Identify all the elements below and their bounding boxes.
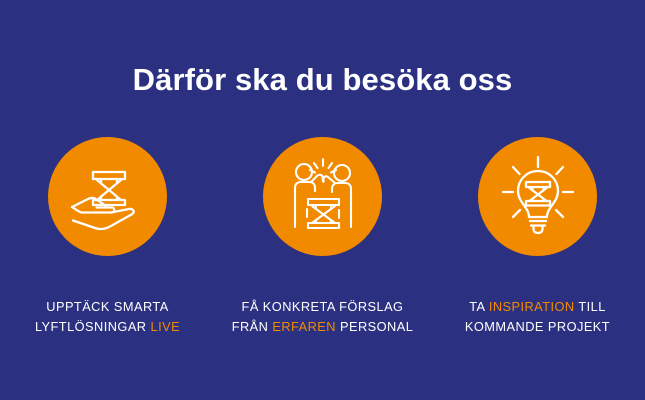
caption-text: FÅ KONKRETA FÖRSLAG	[242, 299, 404, 314]
icon-circle-3	[478, 137, 597, 256]
caption-text: KOMMANDE PROJEKT	[465, 319, 610, 334]
caption-text: UPPTÄCK SMARTA	[46, 299, 168, 314]
lightbulb-with-scissor-lift-icon	[496, 155, 580, 239]
caption-text: FRÅN	[232, 319, 273, 334]
promo-banner: Därför ska du besöka oss	[0, 0, 645, 400]
caption-line-1: FÅ KONKRETA FÖRSLAG	[232, 297, 414, 317]
caption-line-2: LYFTLÖSNINGAR LIVE	[35, 317, 180, 337]
two-people-high-five-over-lift-icon	[281, 155, 365, 239]
caption-text-post: TILL	[575, 299, 606, 314]
hand-holding-scissor-lift-icon	[66, 155, 150, 239]
page-title: Därför ska du besöka oss	[0, 60, 645, 100]
feature-columns: UPPTÄCK SMARTA LYFTLÖSNINGAR LIVE	[0, 137, 645, 337]
icon-circle-1	[48, 137, 167, 256]
caption-line-2: FRÅN ERFAREN PERSONAL	[232, 317, 414, 337]
caption-line-2: KOMMANDE PROJEKT	[465, 317, 610, 337]
icon-circle-2	[263, 137, 382, 256]
feature-caption-1: UPPTÄCK SMARTA LYFTLÖSNINGAR LIVE	[35, 297, 180, 337]
feature-caption-2: FÅ KONKRETA FÖRSLAG FRÅN ERFAREN PERSONA…	[232, 297, 414, 337]
feature-column-1: UPPTÄCK SMARTA LYFTLÖSNINGAR LIVE	[0, 137, 215, 337]
caption-line-1: TA INSPIRATION TILL	[465, 297, 610, 317]
feature-column-2: FÅ KONKRETA FÖRSLAG FRÅN ERFAREN PERSONA…	[215, 137, 430, 337]
caption-text-post: PERSONAL	[336, 319, 413, 334]
caption-line-1: UPPTÄCK SMARTA	[35, 297, 180, 317]
caption-text: LYFTLÖSNINGAR	[35, 319, 151, 334]
feature-caption-3: TA INSPIRATION TILL KOMMANDE PROJEKT	[465, 297, 610, 337]
caption-highlight: ERFAREN	[272, 319, 336, 334]
caption-text: TA	[469, 299, 489, 314]
caption-highlight: INSPIRATION	[489, 299, 575, 314]
caption-highlight: LIVE	[151, 319, 181, 334]
feature-column-3: TA INSPIRATION TILL KOMMANDE PROJEKT	[430, 137, 645, 337]
